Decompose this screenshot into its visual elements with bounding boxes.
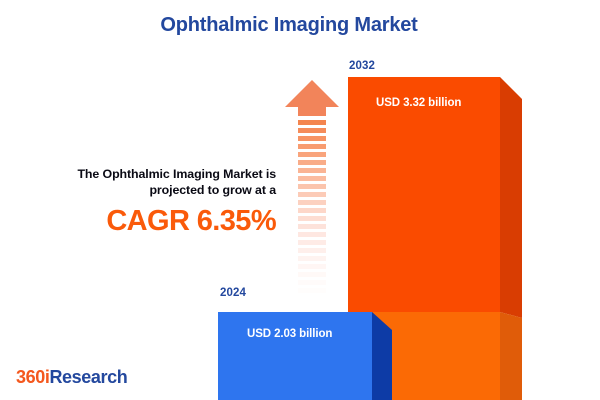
infographic-canvas: Ophthalmic Imaging Market [0,0,600,400]
year-label-2032: 2032 [349,60,375,72]
brand-logo: 360iResearch [16,367,127,388]
value-label-2032: USD 3.32 billion [376,97,461,109]
cagr-value: CAGR 6.35% [14,205,276,237]
logo-prefix: 360i [16,367,49,387]
caption-line-1: The Ophthalmic Imaging Market is [77,167,276,181]
caption-block: The Ophthalmic Imaging Market is project… [14,166,276,237]
caption-line-2: projected to grow at a [149,183,276,197]
value-label-2024: USD 2.03 billion [247,328,332,340]
year-label-2024: 2024 [220,287,246,299]
logo-suffix: Research [49,367,127,387]
bar-2024 [218,312,392,400]
caption-text: The Ophthalmic Imaging Market is project… [14,166,276,198]
